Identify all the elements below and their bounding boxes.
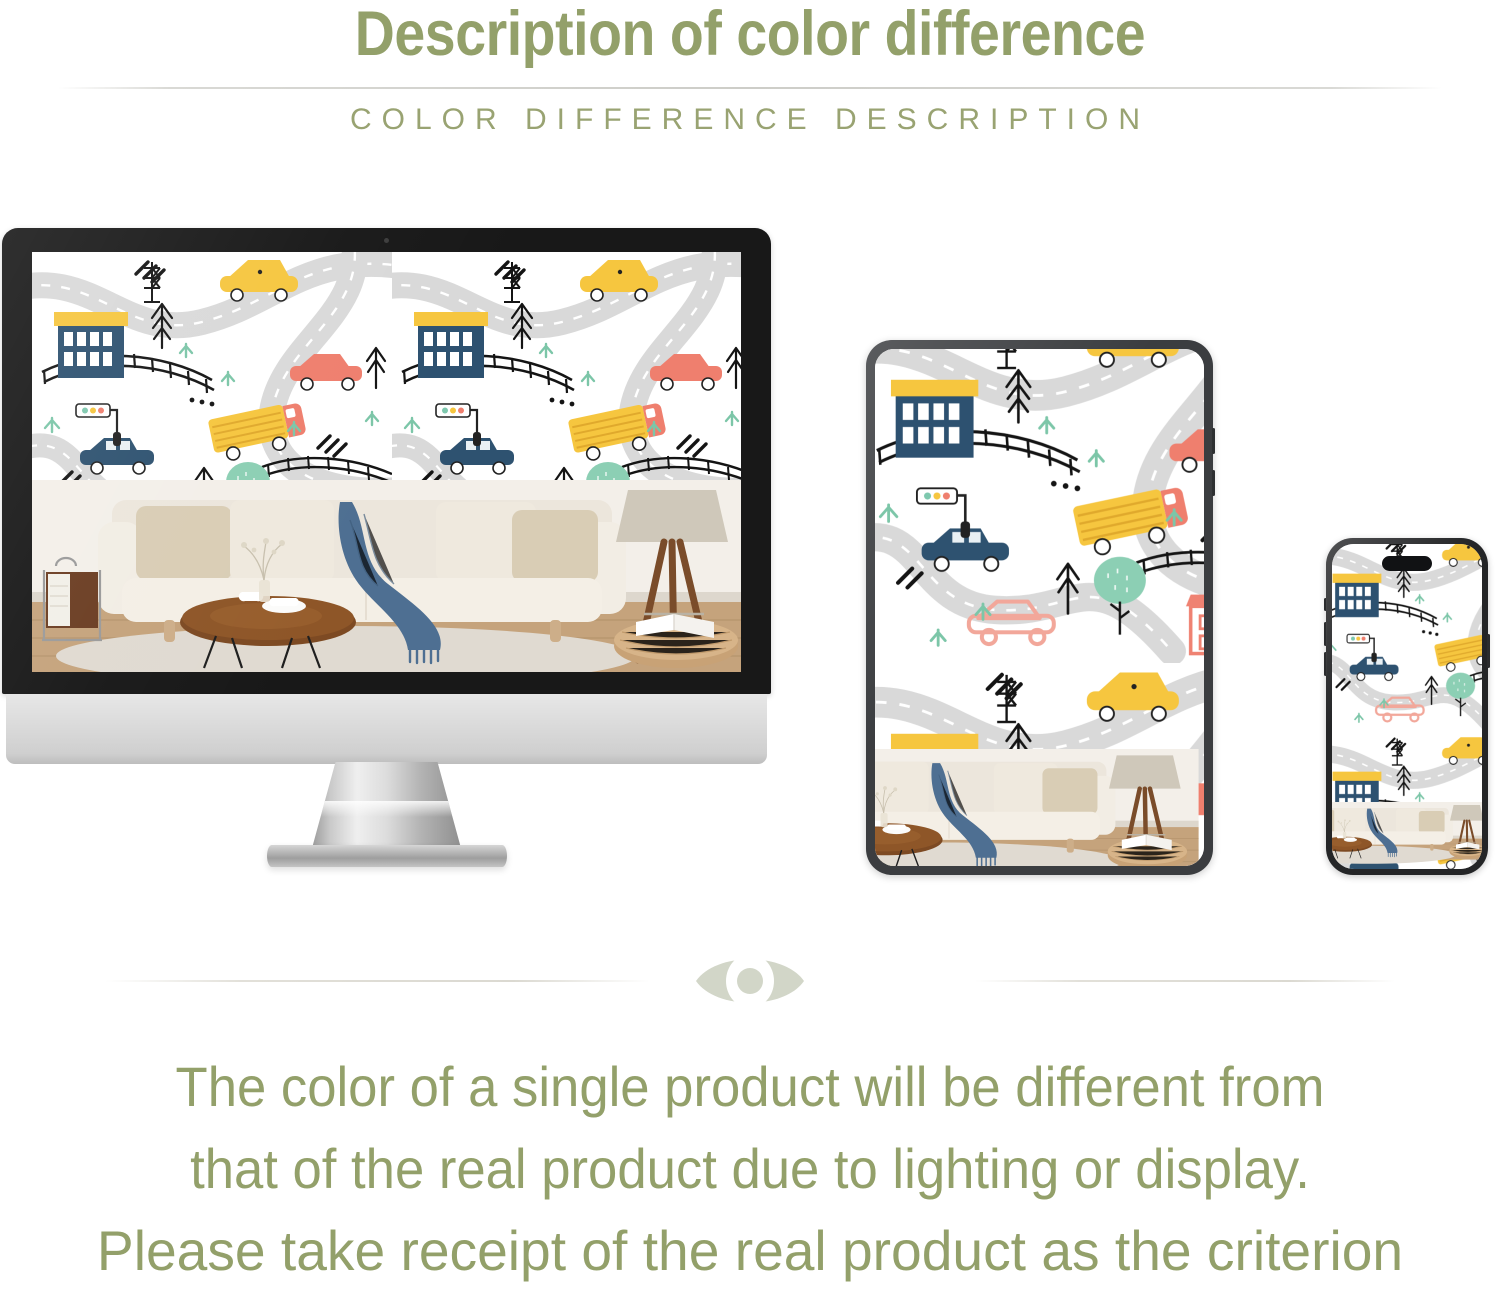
- tablet-volume-up-button[interactable]: [1212, 428, 1215, 454]
- monitor-stand-base: [267, 845, 507, 867]
- monitor-bezel: [2, 228, 771, 694]
- monitor-artwork: [32, 252, 741, 672]
- header-divider: [58, 87, 1442, 89]
- monitor-stand-neck: [312, 762, 462, 850]
- color-difference-page: Description of color difference COLOR DI…: [0, 0, 1500, 1293]
- phone-volume-down-button[interactable]: [1324, 652, 1327, 676]
- dynamic-island: [1382, 556, 1432, 571]
- divider-right: [975, 980, 1395, 982]
- desktop-monitor: [2, 228, 771, 864]
- phone-volume-up-button[interactable]: [1324, 622, 1327, 646]
- disclaimer-line-2: that of the real product due to lighting…: [45, 1128, 1455, 1210]
- page-subtitle: COLOR DIFFERENCE DESCRIPTION: [0, 103, 1500, 137]
- eye-icon: [690, 938, 810, 1024]
- monitor-chin: [6, 694, 767, 764]
- disclaimer-line-1: The color of a single product will be di…: [45, 1046, 1455, 1128]
- smartphone: [1326, 538, 1488, 875]
- phone-screen: [1332, 544, 1482, 869]
- monitor-screen: [32, 252, 741, 672]
- phone-mute-switch[interactable]: [1324, 598, 1327, 611]
- tablet-artwork: [875, 349, 1204, 866]
- tablet: [866, 340, 1213, 875]
- tablet-volume-down-button[interactable]: [1212, 470, 1215, 496]
- phone-artwork: [1332, 544, 1482, 869]
- tablet-screen: [875, 349, 1204, 866]
- webcam-icon: [384, 238, 389, 243]
- phone-power-button[interactable]: [1487, 634, 1490, 668]
- disclaimer-text: The color of a single product will be di…: [0, 1046, 1500, 1292]
- disclaimer-line-3: Please take receipt of the real product …: [11, 1210, 1489, 1292]
- page-title: Description of color difference: [90, 0, 1410, 70]
- eye-divider-row: [0, 938, 1500, 1024]
- divider-left: [105, 980, 650, 982]
